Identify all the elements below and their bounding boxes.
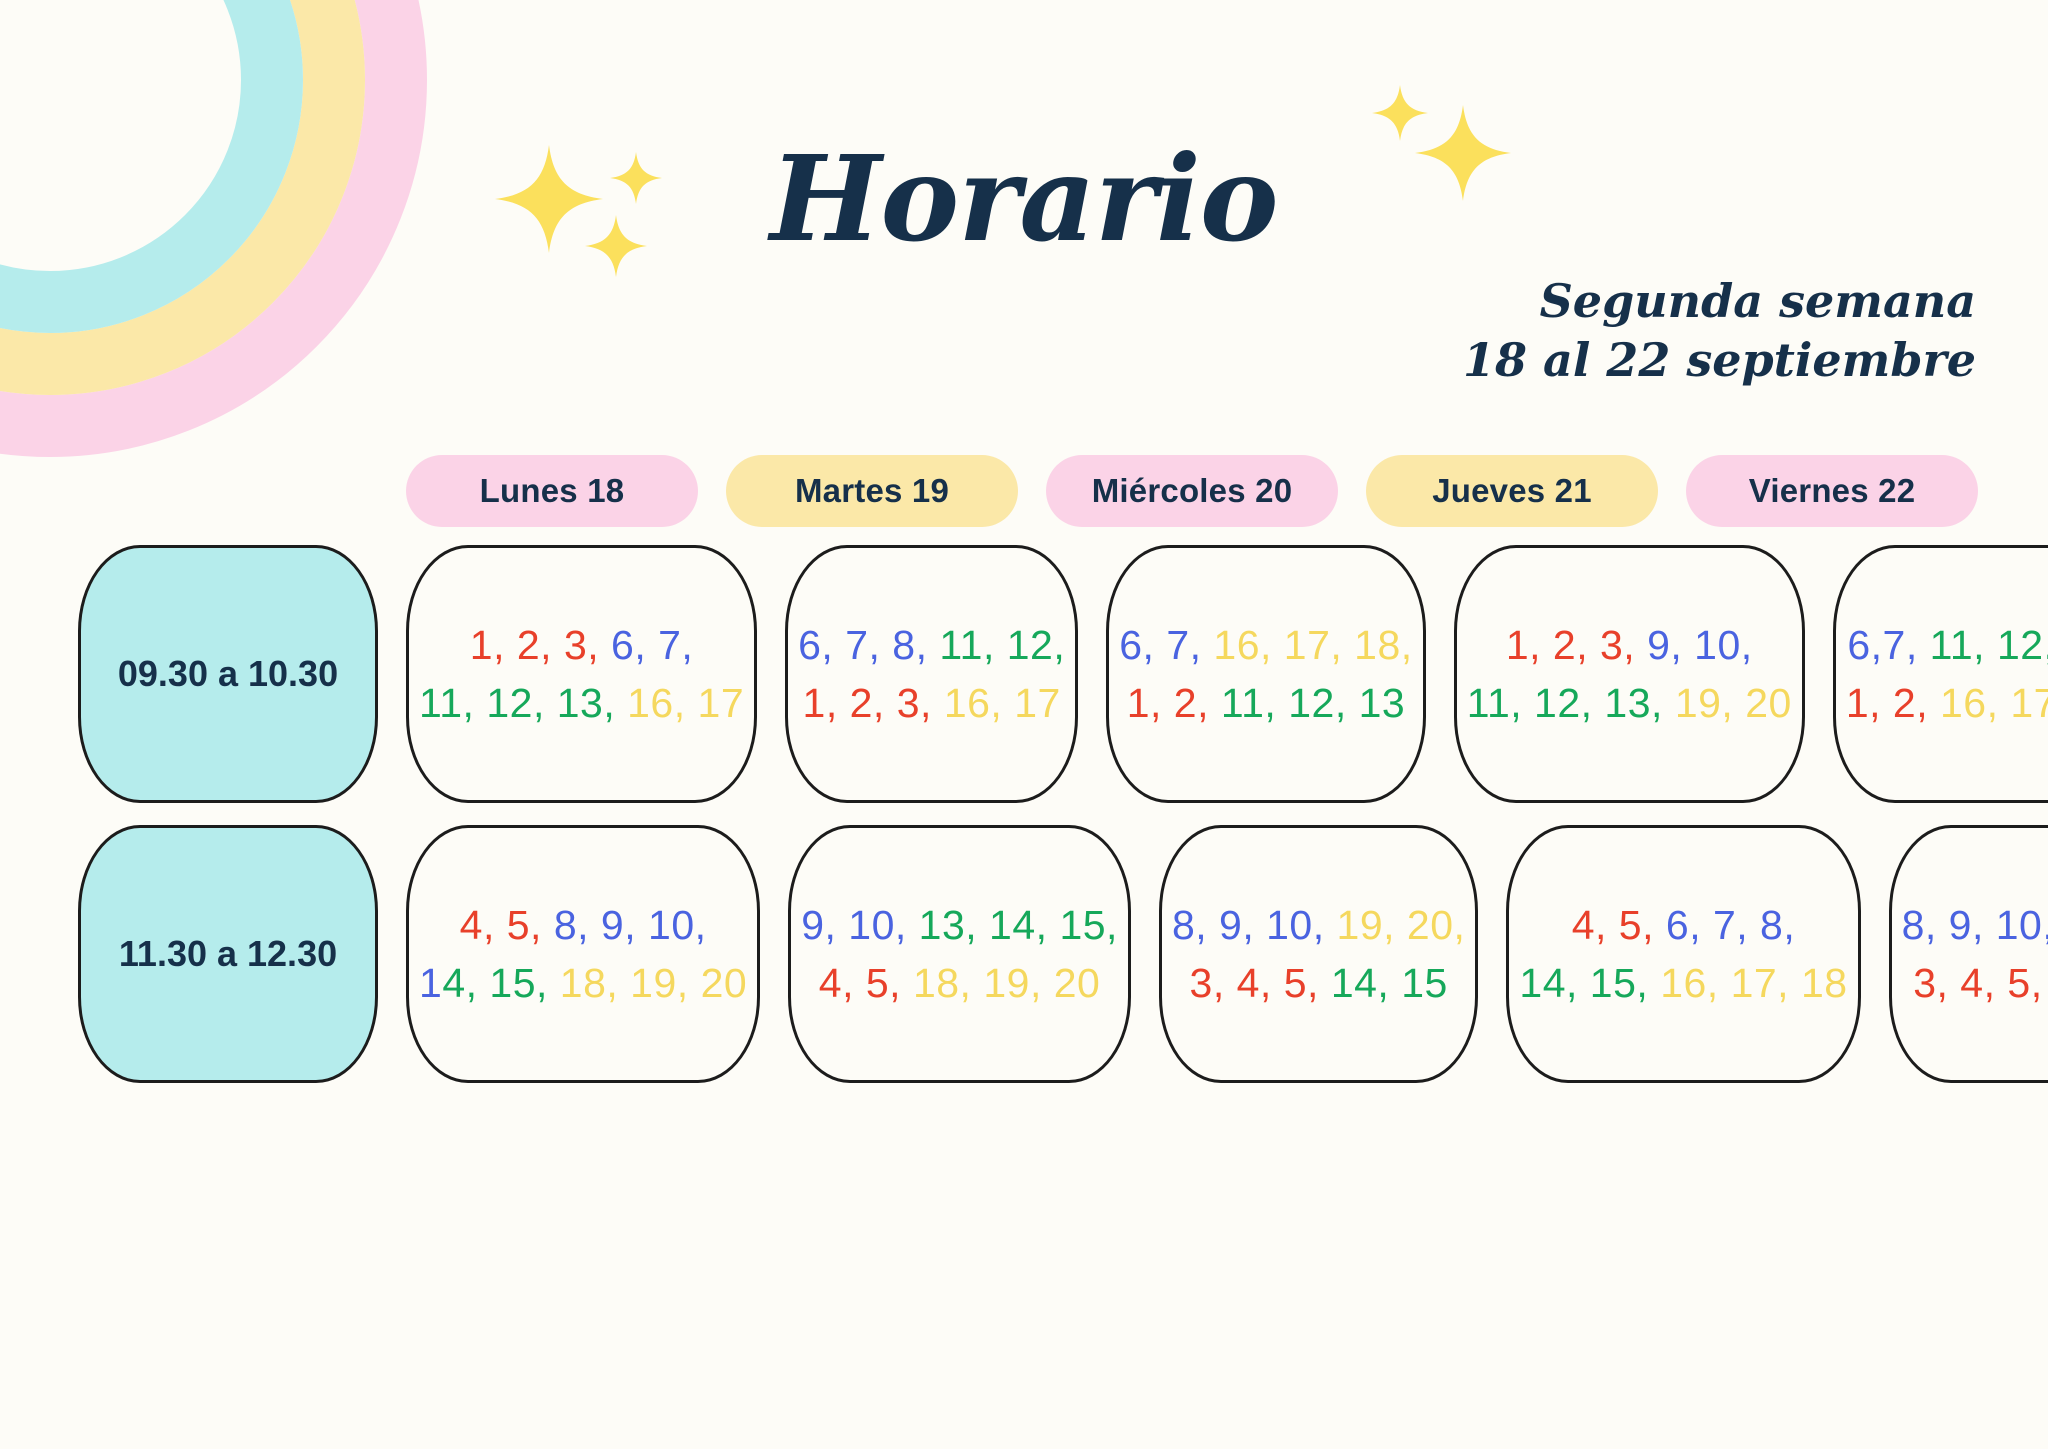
cell-line: 1, 2, 16, 17, 18: [1846, 674, 2048, 732]
cell-line: 4, 5, 18, 19, 20: [819, 954, 1101, 1012]
cell-line: 8, 9, 10, 14, 15: [1902, 896, 2048, 954]
group-numbers-blue: 6, 7, 8,: [1666, 902, 1795, 948]
schedule-cell-jueves-21-11-30-a-12-30[interactable]: 4, 5, 6, 7, 8,14, 15, 16, 17, 18: [1506, 825, 1860, 1083]
schedule-cell-lunes-18-11-30-a-12-30[interactable]: 4, 5, 8, 9, 10,14, 15, 18, 19, 20: [406, 825, 760, 1083]
cell-line: 14, 15, 18, 19, 20: [419, 954, 747, 1012]
group-numbers-red: 1, 2,: [1846, 680, 1940, 726]
sparkle-icon: [1415, 105, 1511, 201]
group-numbers-blue: 8, 9, 10,: [1902, 902, 2048, 948]
cell-line: 6,7, 11, 12, 13.: [1847, 616, 2048, 674]
group-numbers-green: 11, 12,: [939, 622, 1065, 668]
group-numbers-blue: 6, 7,: [1119, 622, 1213, 668]
group-numbers-green: 11, 12, 13: [1221, 680, 1405, 726]
sparkle-icon: [585, 215, 647, 277]
cell-line: 11, 12, 13, 16, 17: [419, 674, 744, 732]
cell-line: 4, 5, 6, 7, 8,: [1572, 896, 1796, 954]
group-numbers-green: 13, 14, 15,: [919, 902, 1118, 948]
group-numbers-yellow: 16, 17, 18,: [1213, 622, 1412, 668]
schedule-cell-viernes-22-09-30-a-10-30[interactable]: 6,7, 11, 12, 13.1, 2, 16, 17, 18: [1833, 545, 2048, 803]
schedule-grid: Lunes 18 Martes 19 Miércoles 20 Jueves 2…: [78, 455, 1978, 1083]
time-slot-11-30-a-12-30: 11.30 a 12.30: [78, 825, 378, 1083]
group-numbers-red: 4, 5,: [819, 960, 913, 1006]
subtitle-dates: 18 al 22 septiembre: [1463, 331, 1976, 390]
group-numbers-blue: 6, 7,: [611, 622, 693, 668]
cell-line: 14, 15, 16, 17, 18: [1519, 954, 1847, 1012]
cell-line: 6, 7, 8, 11, 12,: [798, 616, 1065, 674]
cell-line: 1, 2, 3, 6, 7,: [470, 616, 694, 674]
schedule-row: 09.30 a 10.301, 2, 3, 6, 7,11, 12, 13, 1…: [78, 545, 1978, 803]
cell-line: 1, 2, 3, 9, 10,: [1506, 616, 1753, 674]
schedule-cell-miercoles-20-09-30-a-10-30[interactable]: 6, 7, 16, 17, 18,1, 2, 11, 12, 13: [1106, 545, 1425, 803]
page-title: Horario: [770, 140, 1278, 258]
group-numbers-yellow: 16, 17, 18: [1940, 680, 2048, 726]
group-numbers-yellow: 18, 19, 20: [560, 960, 747, 1006]
group-numbers-yellow: 19, 20,: [1337, 902, 1466, 948]
schedule-rows: 09.30 a 10.301, 2, 3, 6, 7,11, 12, 13, 1…: [78, 545, 1978, 1083]
group-numbers-green: 11, 12, 13,: [1467, 680, 1675, 726]
day-header-jueves[interactable]: Jueves 21: [1366, 455, 1658, 527]
cell-line: 9, 10, 13, 14, 15,: [801, 896, 1118, 954]
cell-line: 8, 9, 10, 19, 20,: [1172, 896, 1465, 954]
day-header-lunes[interactable]: Lunes 18: [406, 455, 698, 527]
group-numbers-green: 14, 15,: [1519, 960, 1660, 1006]
group-numbers-blue: 6,7,: [1847, 622, 1929, 668]
day-header-martes[interactable]: Martes 19: [726, 455, 1018, 527]
group-numbers-blue: 8, 9, 10,: [1172, 902, 1337, 948]
group-numbers-yellow: 19, 20: [1675, 680, 1792, 726]
group-numbers-red: 3, 4, 5,: [1190, 960, 1331, 1006]
schedule-cell-jueves-21-09-30-a-10-30[interactable]: 1, 2, 3, 9, 10,11, 12, 13, 19, 20: [1454, 545, 1805, 803]
sparkle-icon: [1372, 85, 1428, 141]
day-header-viernes[interactable]: Viernes 22: [1686, 455, 1978, 527]
group-numbers-green: 4, 15,: [442, 960, 559, 1006]
group-numbers-red: 3, 4, 5,: [1913, 960, 2048, 1006]
schedule-cell-viernes-22-11-30-a-12-30[interactable]: 8, 9, 10, 14, 153, 4, 5, 19, 20: [1889, 825, 2048, 1083]
rainbow-decoration: [0, 0, 430, 460]
time-slot-09-30-a-10-30: 09.30 a 10.30: [78, 545, 378, 803]
group-numbers-yellow: 16, 17: [944, 680, 1061, 726]
schedule-row: 11.30 a 12.304, 5, 8, 9, 10,14, 15, 18, …: [78, 825, 1978, 1083]
group-numbers-red: 1, 2, 3,: [1506, 622, 1647, 668]
schedule-cell-martes-19-11-30-a-12-30[interactable]: 9, 10, 13, 14, 15,4, 5, 18, 19, 20: [788, 825, 1131, 1083]
schedule-subtitle: Segunda semana 18 al 22 septiembre: [1463, 272, 1976, 390]
group-numbers-yellow: 16, 17: [627, 680, 744, 726]
sparkle-icon: [495, 145, 603, 253]
cell-line: 4, 5, 8, 9, 10,: [460, 896, 707, 954]
group-numbers-green: 14, 15: [1331, 960, 1448, 1006]
group-numbers-blue: 8, 9, 10,: [554, 902, 707, 948]
group-numbers-green: 11, 12, 13,: [419, 680, 627, 726]
cell-line: 6, 7, 16, 17, 18,: [1119, 616, 1412, 674]
cell-line: 1, 2, 11, 12, 13: [1127, 674, 1406, 732]
cell-line: 11, 12, 13, 19, 20: [1467, 674, 1792, 732]
day-header-row: Lunes 18 Martes 19 Miércoles 20 Jueves 2…: [78, 455, 1978, 527]
cell-line: 3, 4, 5, 19, 20: [1913, 954, 2048, 1012]
group-numbers-red: 4, 5,: [1572, 902, 1666, 948]
schedule-cell-martes-19-09-30-a-10-30[interactable]: 6, 7, 8, 11, 12,1, 2, 3, 16, 17: [785, 545, 1078, 803]
group-numbers-blue: 9, 10,: [801, 902, 918, 948]
day-header-miercoles[interactable]: Miércoles 20: [1046, 455, 1338, 527]
group-numbers-blue: 9, 10,: [1647, 622, 1753, 668]
group-numbers-red: 1, 2, 3,: [803, 680, 944, 726]
sparkle-icon: [610, 152, 662, 204]
group-numbers-yellow: 18, 19, 20: [913, 960, 1100, 1006]
schedule-cell-lunes-18-09-30-a-10-30[interactable]: 1, 2, 3, 6, 7,11, 12, 13, 16, 17: [406, 545, 757, 803]
group-numbers-yellow: 16, 17, 18: [1660, 960, 1847, 1006]
group-numbers-red: 1, 2,: [1127, 680, 1221, 726]
group-numbers-red: 1, 2, 3,: [470, 622, 611, 668]
cell-line: 1, 2, 3, 16, 17: [803, 674, 1061, 732]
group-numbers-blue: 6, 7, 8,: [798, 622, 939, 668]
group-numbers-green: 11, 12, 13.: [1930, 622, 2048, 668]
group-numbers-blue: 1: [419, 960, 442, 1006]
cell-line: 3, 4, 5, 14, 15: [1190, 954, 1448, 1012]
group-numbers-red: 4, 5,: [460, 902, 554, 948]
subtitle-week: Segunda semana: [1463, 272, 1976, 331]
schedule-cell-miercoles-20-11-30-a-12-30[interactable]: 8, 9, 10, 19, 20,3, 4, 5, 14, 15: [1159, 825, 1478, 1083]
